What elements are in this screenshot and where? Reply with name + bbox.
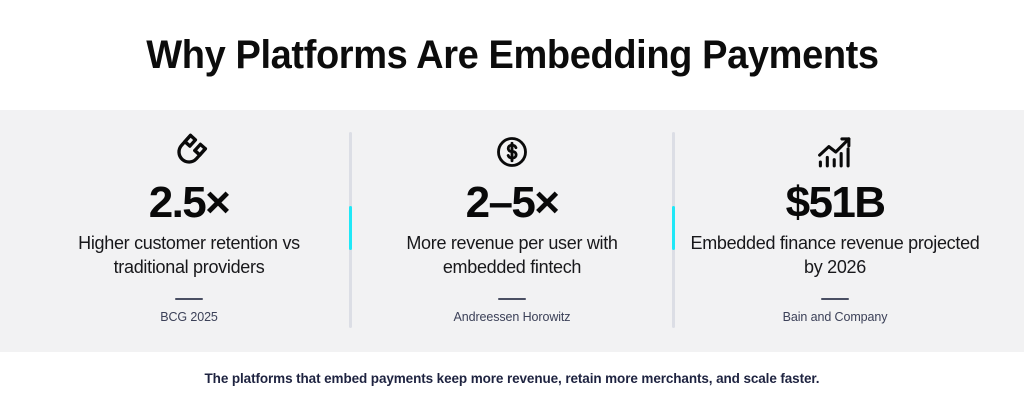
stat-value: 2–5× — [466, 180, 559, 226]
stat-description: Higher customer retention vs traditional… — [44, 232, 334, 280]
stat-divider-dash — [498, 298, 526, 300]
stat-card-revenue-per-user: 2–5× More revenue per user with embedded… — [352, 110, 672, 352]
stat-divider-dash — [175, 298, 203, 300]
dollar-circle-icon — [494, 132, 530, 172]
footer-tagline: The platforms that embed payments keep m… — [205, 371, 820, 387]
stat-value: $51B — [786, 180, 885, 226]
stat-divider-dash — [821, 298, 849, 300]
page-title: Why Platforms Are Embedding Payments — [146, 35, 878, 75]
title-area: Why Platforms Are Embedding Payments — [0, 0, 1024, 110]
stat-source: Bain and Company — [783, 310, 888, 325]
column-divider — [349, 132, 352, 328]
divider-accent — [349, 206, 352, 249]
infographic-root: Why Platforms Are Embedding Payments 2.5… — [0, 0, 1024, 406]
footer-area: The platforms that embed payments keep m… — [0, 352, 1024, 406]
stat-source: Andreessen Horowitz — [454, 310, 571, 325]
stat-value: 2.5× — [149, 180, 229, 226]
stat-card-embedded-finance-revenue: $51B Embedded finance revenue projected … — [675, 110, 995, 352]
stat-card-retention: 2.5× Higher customer retention vs tradit… — [29, 110, 349, 352]
divider-accent — [672, 206, 675, 249]
stat-description: More revenue per user with embedded fint… — [367, 232, 657, 280]
stat-source: BCG 2025 — [160, 310, 218, 325]
magnet-icon — [169, 132, 209, 172]
stat-description: Embedded finance revenue projected by 20… — [690, 232, 980, 280]
column-divider — [672, 132, 675, 328]
growth-chart-icon — [815, 132, 855, 172]
stats-band: 2.5× Higher customer retention vs tradit… — [0, 110, 1024, 352]
